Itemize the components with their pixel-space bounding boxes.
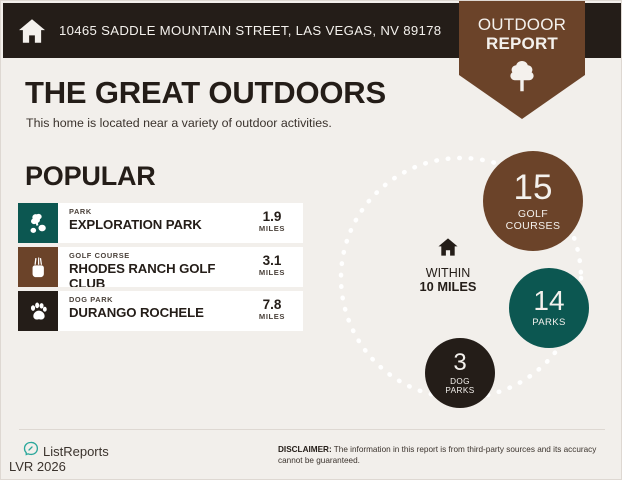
list-item-category: GOLF COURSE [69,251,241,260]
diagram-center-info: WITHIN 10 MILES [393,236,503,294]
center-line-1: WITHIN [393,266,503,280]
property-address: 10465 SADDLE MOUNTAIN STREET, LAS VEGAS,… [59,23,441,38]
list-item[interactable]: GOLF COURSE RHODES RANCH GOLF CLUB 3.1 M… [18,247,303,287]
stat-circle-dog-parks: 3 DOG PARKS [425,338,495,408]
stat-label-line-2: PARKS [445,386,474,395]
lvr-label: LVR 2026 [9,459,66,474]
list-item[interactable]: DOG PARK DURANGO ROCHELE 7.8 MILES [18,291,303,331]
list-item[interactable]: PARK EXPLORATION PARK 1.9 MILES [18,203,303,243]
list-item-body: DOG PARK DURANGO ROCHELE [58,291,241,331]
list-item-distance: 3.1 MILES [241,247,303,287]
list-item-category: PARK [69,207,241,216]
stat-label-line-1: DOG [445,377,474,386]
distance-value: 7.8 [241,298,303,312]
golf-bag-icon [18,247,58,287]
stat-circle-parks: 14 PARKS [509,268,589,348]
center-line-2: 10 MILES [393,280,503,294]
paw-icon [18,291,58,331]
stat-label-line-1: GOLF [506,209,561,221]
distance-unit: MILES [241,312,303,322]
page-title: THE GREAT OUTDOORS [25,75,386,111]
stat-label: DOG PARKS [445,377,474,395]
stat-label-line-2: COURSES [506,221,561,233]
list-item-distance: 1.9 MILES [241,203,303,243]
tree-icon [507,59,537,93]
badge-line-2: REPORT [459,34,585,53]
popular-heading: POPULAR [25,161,156,192]
list-item-distance: 7.8 MILES [241,291,303,331]
stat-value: 14 [533,287,564,315]
badge-title: OUTDOOR REPORT [459,15,585,53]
listreports-logo-text: ListReports [43,444,109,459]
distance-unit: MILES [241,224,303,234]
outdoor-summary-diagram: 15 GOLF COURSES 14 PARKS 3 DOG PARKS [331,141,616,416]
listreports-logo[interactable]: ListReports [23,441,109,461]
disclaimer: DISCLAIMER: The information in this repo… [278,444,598,466]
stat-label: PARKS [532,318,566,329]
stat-value: 15 [514,170,553,205]
outdoor-report-badge: OUTDOOR REPORT [459,1,585,119]
popular-list: PARK EXPLORATION PARK 1.9 MILES GOLF COU… [18,203,303,335]
list-item-category: DOG PARK [69,295,241,304]
outdoor-report-page: 10465 SADDLE MOUNTAIN STREET, LAS VEGAS,… [0,0,622,480]
distance-value: 1.9 [241,210,303,224]
list-item-name: DURANGO ROCHELE [69,305,241,320]
stat-label-line-1: PARKS [532,318,566,329]
stat-value: 3 [453,351,466,375]
distance-value: 3.1 [241,254,303,268]
distance-unit: MILES [241,268,303,278]
stat-label: GOLF COURSES [506,209,561,232]
list-item-body: PARK EXPLORATION PARK [58,203,241,243]
page-subtitle: This home is located near a variety of o… [26,116,332,130]
list-item-name: EXPLORATION PARK [69,217,241,232]
list-item-name: RHODES RANCH GOLF CLUB [69,261,241,287]
header-bar: 10465 SADDLE MOUNTAIN STREET, LAS VEGAS,… [3,3,455,58]
home-icon [17,16,47,46]
park-icon [18,203,58,243]
listreports-leaf-icon [23,441,38,461]
disclaimer-label: DISCLAIMER: [278,445,332,454]
footer-divider [19,429,605,430]
badge-line-1: OUTDOOR [459,15,585,34]
list-item-body: GOLF COURSE RHODES RANCH GOLF CLUB [58,247,241,287]
home-icon [437,245,459,262]
